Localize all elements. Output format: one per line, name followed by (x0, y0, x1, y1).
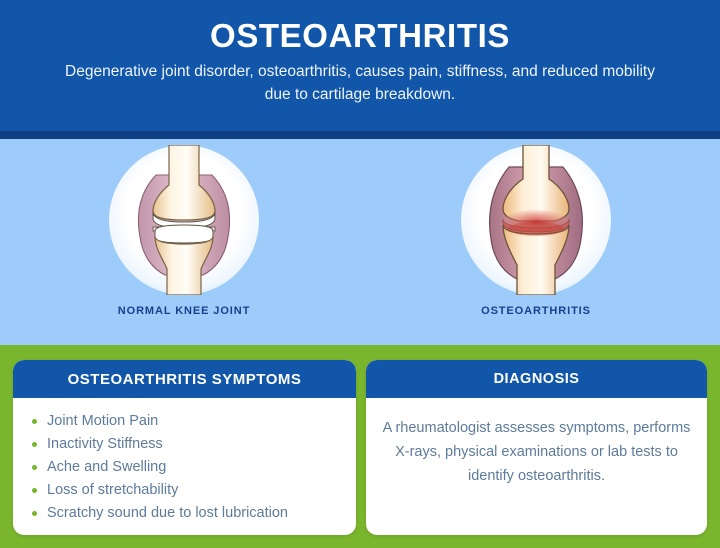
page-title: OSTEOARTHRITIS (0, 16, 720, 56)
symptoms-card: OSTEOARTHRITIS SYMPTOMS Joint Motion Pai… (13, 360, 356, 535)
osteoarthritis-knee-figure: OSTEOARTHRITIS (416, 139, 656, 345)
list-item: Joint Motion Pain (29, 410, 340, 433)
list-item: Inactivity Stiffness (29, 433, 340, 456)
diagnosis-text: A rheumatologist assesses symptoms, perf… (382, 410, 691, 488)
osteoarthritis-label: OSTEOARTHRITIS (416, 305, 656, 317)
symptoms-card-header: OSTEOARTHRITIS SYMPTOMS (13, 360, 356, 398)
diagnosis-heading: DIAGNOSIS (494, 371, 580, 387)
normal-knee-joint-icon (109, 145, 259, 295)
diagnosis-card: DIAGNOSIS A rheumatologist assesses symp… (366, 360, 707, 535)
list-item: Scratchy sound due to lost lubrication (29, 502, 340, 525)
normal-knee-figure: NORMAL KNEE JOINT (64, 139, 304, 345)
header-banner: OSTEOARTHRITIS Degenerative joint disord… (0, 0, 720, 131)
diagnosis-card-body: A rheumatologist assesses symptoms, perf… (366, 398, 707, 498)
joint-comparison-section: NORMAL KNEE JOINT (0, 139, 720, 345)
symptoms-list: Joint Motion Pain Inactivity Stiffness A… (29, 410, 340, 525)
symptoms-heading: OSTEOARTHRITIS SYMPTOMS (68, 371, 302, 388)
header-divider (0, 131, 720, 139)
list-item: Loss of stretchability (29, 479, 340, 502)
normal-knee-label: NORMAL KNEE JOINT (64, 305, 304, 317)
list-item: Ache and Swelling (29, 456, 340, 479)
symptoms-card-body: Joint Motion Pain Inactivity Stiffness A… (13, 398, 356, 535)
bottom-green-band: OSTEOARTHRITIS SYMPTOMS Joint Motion Pai… (0, 345, 720, 548)
osteoarthritis-knee-joint-icon (461, 145, 611, 295)
diagnosis-card-header: DIAGNOSIS (366, 360, 707, 398)
osteoarthritis-infographic: OSTEOARTHRITIS Degenerative joint disord… (0, 0, 720, 548)
page-subtitle: Degenerative joint disorder, osteoarthri… (60, 60, 660, 106)
